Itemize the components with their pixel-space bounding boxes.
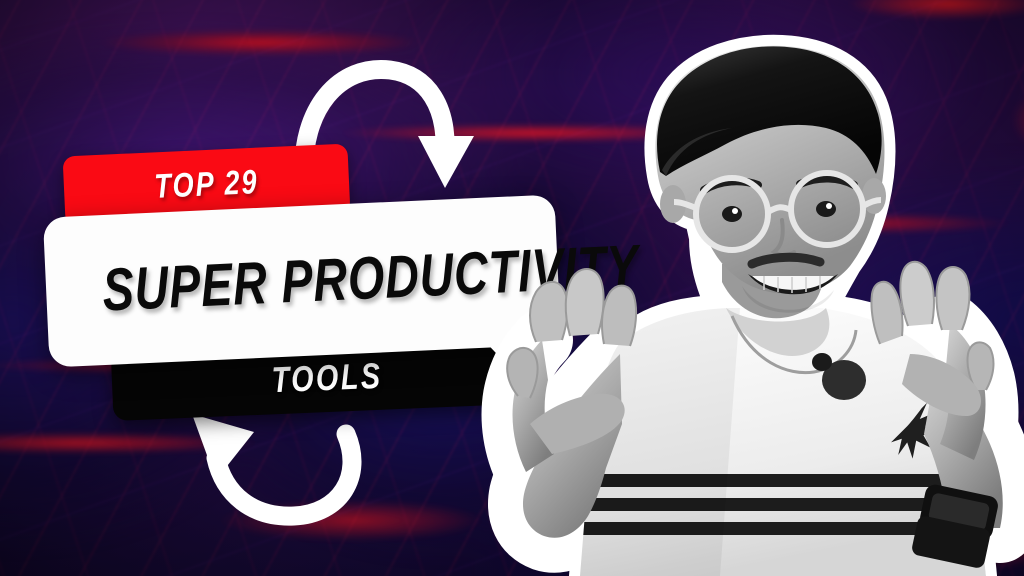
top-badge-text: TOP 29 <box>92 160 322 209</box>
title-block: TOOLS SUPER PRODUCTIVITY TOP 29 <box>0 0 620 440</box>
headline-card: SUPER PRODUCTIVITY <box>43 194 561 367</box>
video-thumbnail: TOOLS SUPER PRODUCTIVITY TOP 29 <box>0 0 1024 576</box>
speech-bubble-tail <box>487 342 522 374</box>
headline-text: SUPER PRODUCTIVITY <box>101 237 503 324</box>
